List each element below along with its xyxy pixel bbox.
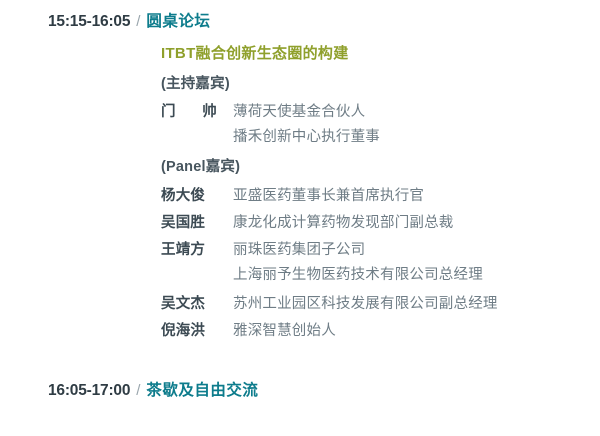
person-row: 王靖方 丽珠医药集团子公司上海丽予生物医药技术有限公司总经理 — [161, 238, 483, 288]
person-description: 苏州工业园区科技发展有限公司副总经理 — [233, 292, 498, 317]
session-time: 16:05-17:00 — [48, 382, 130, 400]
person-name: 杨大俊 — [161, 184, 233, 205]
agenda-page: 15:15-16:05 / 圆桌论坛 ITBT融合创新生态圈的构建 (主持嘉宾)… — [0, 0, 600, 436]
person-row: 门帅 薄荷天使基金合伙人播禾创新中心执行董事 — [161, 100, 380, 150]
person-row: 吴文杰 苏州工业园区科技发展有限公司副总经理 — [161, 292, 498, 317]
person-name-char: 帅 — [202, 100, 217, 121]
session-separator: / — [136, 382, 140, 399]
session-separator: / — [136, 13, 140, 30]
group-label-panel: (Panel嘉宾) — [161, 155, 240, 176]
person-description-line: 播禾创新中心执行董事 — [233, 125, 380, 150]
person-name: 王靖方 — [161, 238, 233, 259]
person-description: 亚盛医药董事长兼首席执行官 — [233, 184, 424, 209]
person-row: 倪海洪 雅深智慧创始人 — [161, 319, 336, 344]
group-label-host: (主持嘉宾) — [161, 72, 230, 93]
session-time: 15:15-16:05 — [48, 13, 130, 31]
person-name: 门帅 — [161, 100, 233, 121]
person-description-line: 丽珠医药集团子公司 — [233, 242, 365, 258]
session-title: 圆桌论坛 — [146, 9, 210, 31]
person-description: 丽珠医药集团子公司上海丽予生物医药技术有限公司总经理 — [233, 238, 483, 288]
person-name: 吴文杰 — [161, 292, 233, 313]
person-name-char: 门 — [161, 100, 176, 121]
person-description: 薄荷天使基金合伙人播禾创新中心执行董事 — [233, 100, 380, 150]
session-header-roundtable: 15:15-16:05 / 圆桌论坛 — [48, 9, 210, 31]
person-row: 杨大俊 亚盛医药董事长兼首席执行官 — [161, 184, 424, 209]
session-topic: ITBT融合创新生态圈的构建 — [161, 42, 349, 63]
session-title: 茶歇及自由交流 — [146, 378, 258, 400]
person-name: 吴国胜 — [161, 211, 233, 232]
session-header-teabreak: 16:05-17:00 / 茶歇及自由交流 — [48, 378, 258, 400]
person-row: 吴国胜 康龙化成计算药物发现部门副总裁 — [161, 211, 454, 236]
person-description: 康龙化成计算药物发现部门副总裁 — [233, 211, 454, 236]
person-description: 雅深智慧创始人 — [233, 319, 336, 344]
person-name: 倪海洪 — [161, 319, 233, 340]
person-description-line: 薄荷天使基金合伙人 — [233, 104, 365, 120]
person-description-line: 上海丽予生物医药技术有限公司总经理 — [233, 263, 483, 288]
